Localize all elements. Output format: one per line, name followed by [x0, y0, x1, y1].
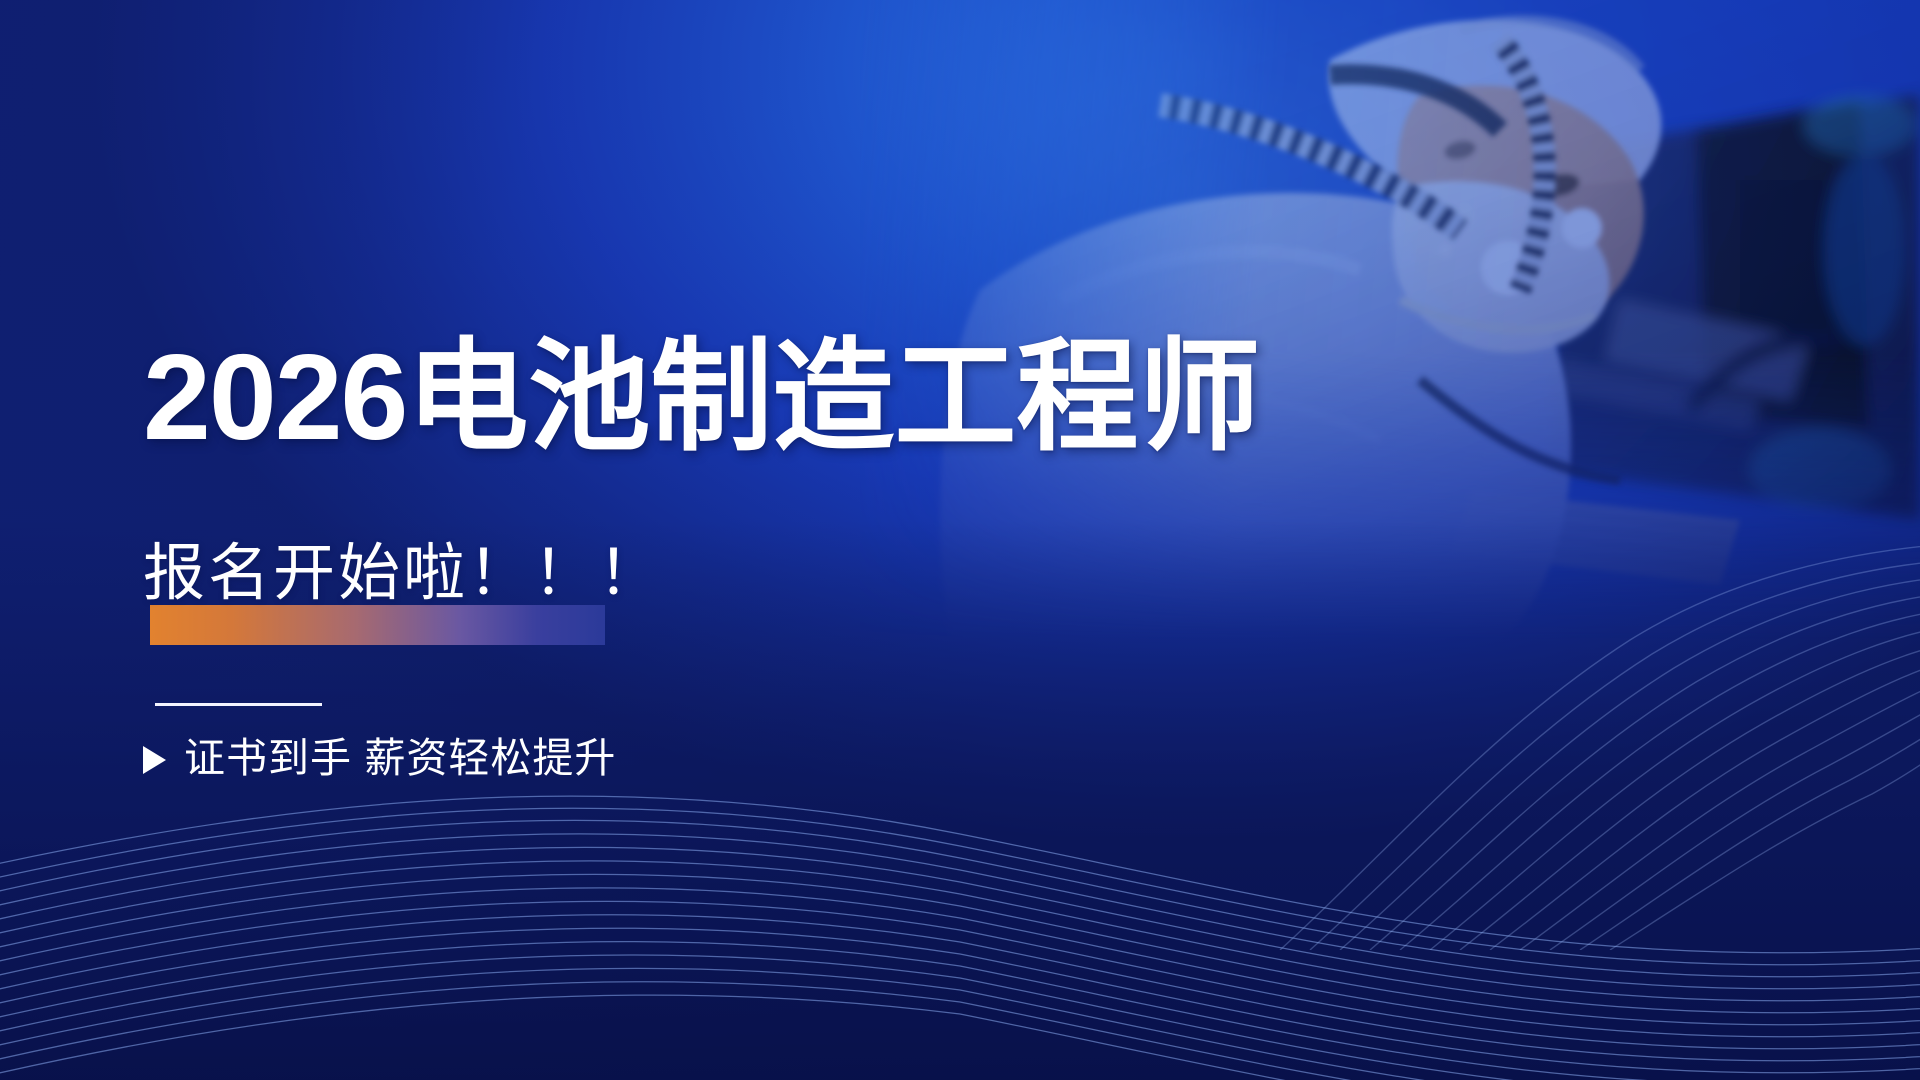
headline-rest: 电池制造工程师 — [406, 329, 1260, 465]
headline-year: 2026 — [143, 329, 406, 465]
tagline-text: 证书到手 薪资轻松提升 — [184, 738, 616, 779]
subline-group: 报名开始啦！！！ — [143, 543, 663, 653]
headline: 2026电池制造工程师 — [143, 336, 1260, 458]
subline-highlight-bar — [150, 605, 605, 645]
subline: 报名开始啦！！！ — [143, 543, 663, 605]
tagline-group: 证书到手 薪资轻松提升 — [143, 738, 616, 779]
play-triangle-icon — [143, 746, 166, 774]
divider-rule — [155, 703, 322, 706]
banner-content: 2026电池制造工程师 报名开始啦！！！ 证书到手 薪资轻松提升 — [143, 0, 1703, 1080]
promo-banner: 2026电池制造工程师 报名开始啦！！！ 证书到手 薪资轻松提升 — [0, 0, 1920, 1080]
